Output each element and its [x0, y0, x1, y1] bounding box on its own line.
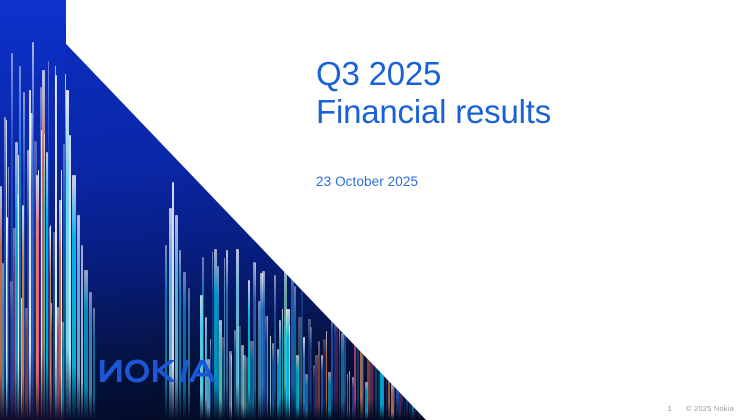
light-streak — [388, 345, 390, 420]
artwork-left-strip — [0, 0, 66, 420]
light-streak — [41, 130, 42, 420]
light-streak — [326, 331, 327, 420]
light-streak — [179, 250, 181, 420]
light-streak — [354, 321, 356, 420]
nokia-logo — [100, 358, 216, 388]
light-streak — [212, 252, 213, 420]
light-streak — [36, 175, 38, 420]
light-streak — [29, 90, 31, 420]
title-block: Q3 2025 Financial results — [316, 55, 716, 131]
light-streak — [406, 321, 407, 420]
light-streak — [425, 306, 427, 420]
light-streak — [202, 257, 203, 420]
light-streak — [279, 320, 281, 420]
light-streak — [77, 215, 80, 420]
light-streak — [357, 324, 359, 420]
light-streak — [318, 341, 320, 420]
presentation-slide: Q3 2025 Financial results 23 October 202… — [0, 0, 750, 420]
light-streak — [165, 245, 167, 420]
light-streak — [44, 134, 45, 420]
light-streak — [401, 314, 402, 420]
page-title: Q3 2025 Financial results — [316, 55, 716, 131]
light-streak — [404, 370, 405, 420]
light-streak — [414, 368, 416, 420]
light-streak — [375, 336, 377, 420]
light-streak — [22, 205, 24, 420]
copyright-notice: © 2025 Nokia — [686, 404, 734, 413]
light-streak — [55, 75, 57, 420]
light-streak — [226, 250, 227, 420]
light-streak — [93, 308, 95, 420]
light-streak — [69, 135, 71, 420]
slide-date: 23 October 2025 — [316, 174, 418, 189]
light-streak — [362, 314, 364, 420]
light-streak — [188, 288, 190, 420]
light-streak — [248, 280, 250, 420]
light-streak — [339, 330, 340, 420]
light-streak — [89, 292, 92, 420]
light-streak — [427, 362, 430, 420]
light-streak — [72, 175, 76, 420]
light-streak — [175, 215, 178, 420]
light-streak — [18, 155, 19, 420]
light-streak — [282, 309, 283, 420]
light-streak — [65, 74, 66, 420]
light-streak — [183, 272, 186, 420]
light-streak — [310, 327, 312, 420]
slide-footer: 1 © 2025 Nokia — [668, 404, 734, 413]
light-streak — [8, 167, 9, 420]
light-streak — [331, 301, 333, 420]
light-streak — [386, 361, 387, 420]
light-streak — [61, 170, 62, 420]
light-streak — [373, 327, 374, 420]
page-number: 1 — [668, 404, 672, 413]
light-streak — [419, 369, 420, 420]
light-streak — [289, 325, 290, 420]
light-streak — [81, 245, 83, 420]
light-streak — [344, 307, 346, 420]
light-streak — [84, 270, 88, 420]
light-streak — [422, 318, 424, 420]
light-streak — [274, 275, 275, 420]
light-streak — [347, 374, 348, 420]
light-streak — [417, 314, 419, 420]
